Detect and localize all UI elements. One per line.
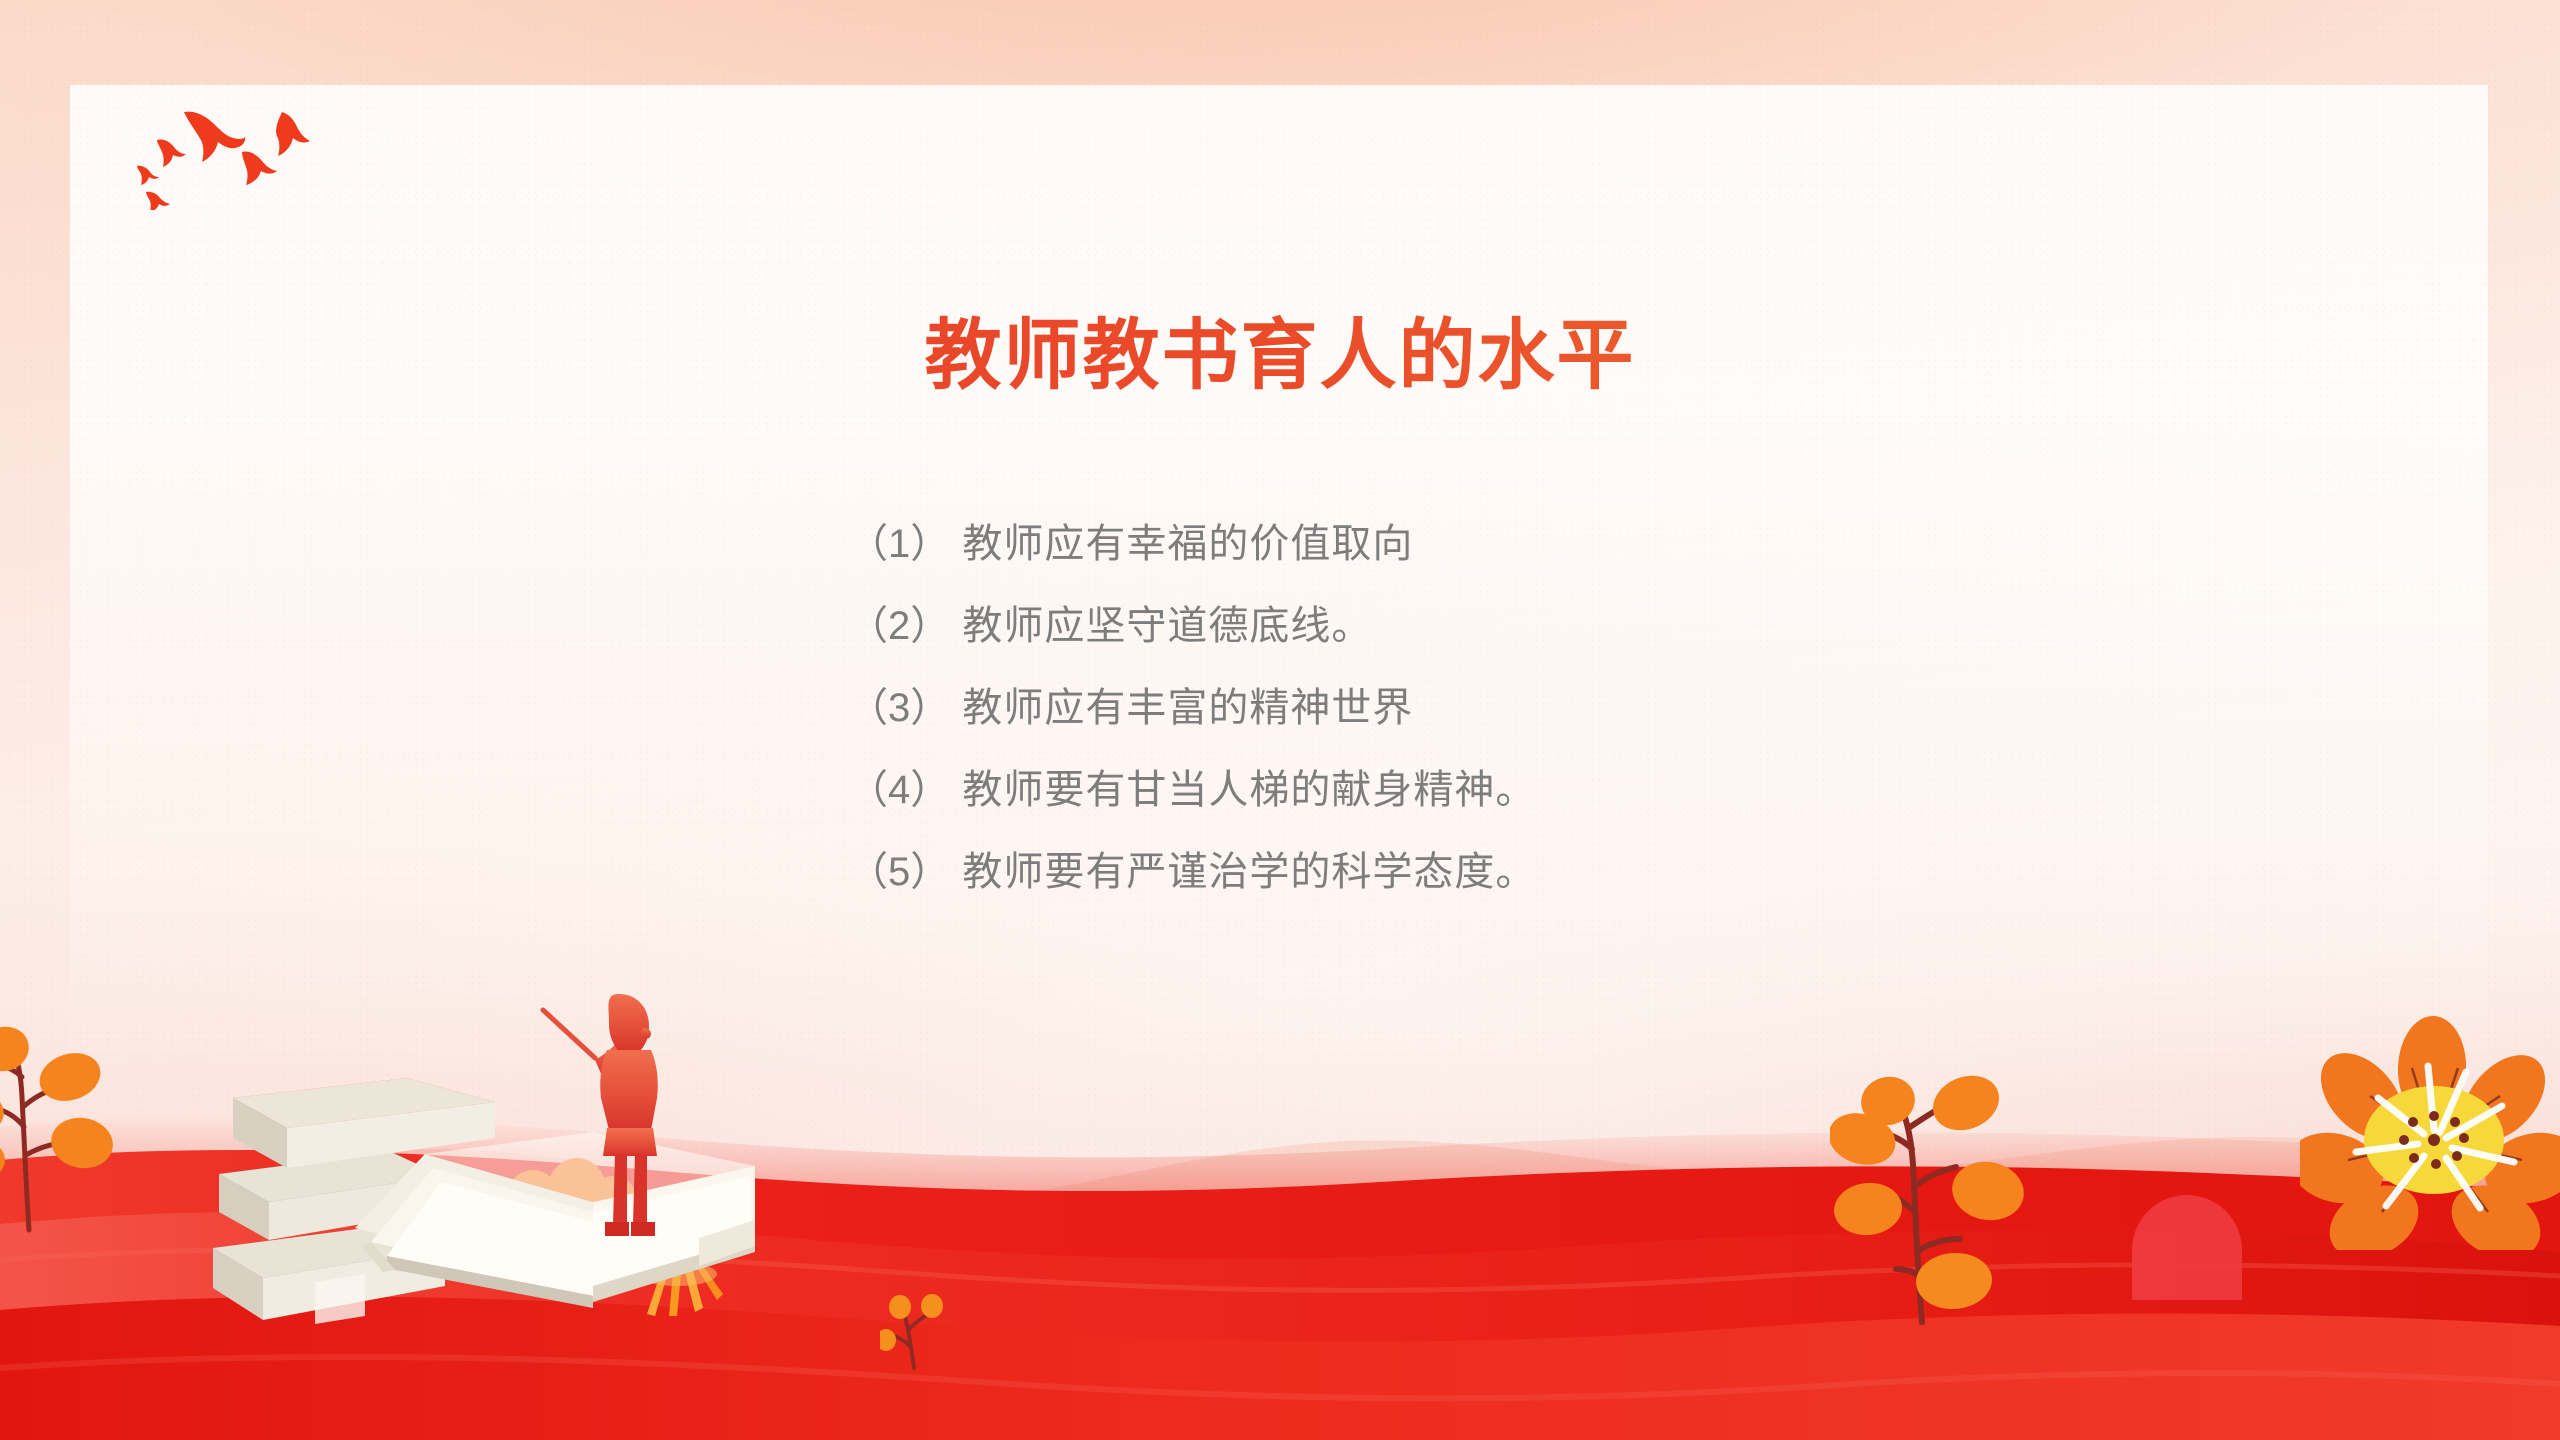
sun-dome-icon: [2122, 1190, 2252, 1300]
list-item-label: 教师应有幸福的价值取向: [962, 522, 1413, 566]
list-item-number: （5）: [848, 850, 950, 894]
bullet-list: （1） 教师应有幸福的价值取向 （2） 教师应坚守道德底线。 （3） 教师应有丰…: [848, 524, 2248, 892]
list-item-label: 教师应有丰富的精神世界: [962, 686, 1413, 730]
book-stack-illustration: [195, 980, 775, 1340]
list-item-label: 教师应坚守道德底线。: [962, 604, 1372, 648]
list-item-number: （4）: [848, 768, 950, 812]
list-item: （1） 教师应有幸福的价值取向: [848, 524, 2248, 564]
slide-canvas: 教师教书育人的水平 （1） 教师应有幸福的价值取向 （2） 教师应坚守道德底线。…: [0, 0, 2560, 1440]
list-item-label: 教师要有甘当人梯的献身精神。: [962, 768, 1536, 812]
page-title: 教师教书育人的水平: [0, 315, 2560, 398]
list-item-label: 教师要有严谨治学的科学态度。: [962, 850, 1536, 894]
list-item-number: （1）: [848, 522, 950, 566]
flying-birds-icon: [132, 100, 332, 210]
leaf-sprig-icon: [0, 1015, 152, 1235]
list-item: （4） 教师要有甘当人梯的献身精神。: [848, 770, 2248, 810]
list-item-number: （3）: [848, 686, 950, 730]
list-item: （3） 教师应有丰富的精神世界: [848, 688, 2248, 728]
list-item-number: （2）: [848, 604, 950, 648]
orange-flower-icon: [2300, 1010, 2560, 1250]
list-item: （2） 教师应坚守道德底线。: [848, 606, 2248, 646]
leaf-sprig-icon: [1830, 1075, 2060, 1325]
leaf-sprig-icon: [880, 1290, 950, 1370]
list-item: （5） 教师要有严谨治学的科学态度。: [848, 852, 2248, 892]
